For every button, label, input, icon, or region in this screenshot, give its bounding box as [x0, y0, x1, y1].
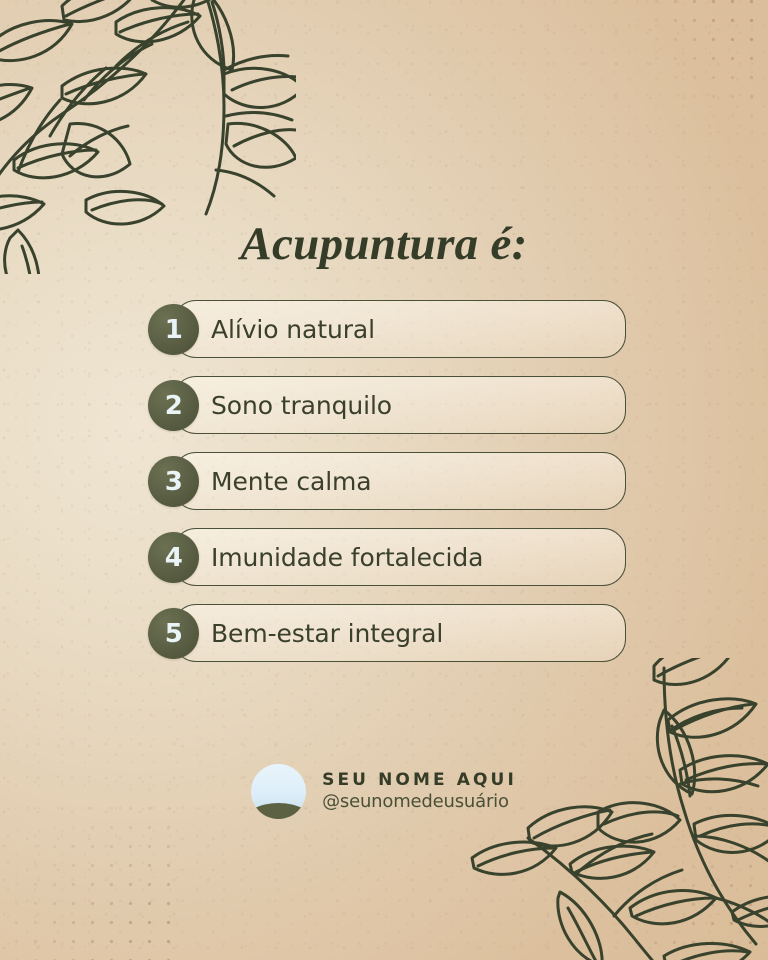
speckle-top-right [628, 0, 768, 142]
benefits-list: 1 Alívio natural 2 Sono tranquilo 3 Ment… [148, 300, 626, 680]
footer-text: SEU NOME AQUI @seunomedeusuário [322, 770, 517, 814]
list-item-number: 3 [165, 469, 183, 495]
list-item: 5 Bem-estar integral [148, 604, 626, 662]
footer-name: SEU NOME AQUI [322, 770, 517, 791]
list-item-number: 1 [165, 317, 183, 343]
list-item-number: 4 [165, 545, 183, 571]
footer-signature: SEU NOME AQUI @seunomedeusuário [0, 764, 768, 819]
list-item: 2 Sono tranquilo [148, 376, 626, 434]
footer-handle: @seunomedeusuário [322, 791, 517, 814]
list-item-label: Bem-estar integral [211, 604, 443, 662]
list-item: 3 Mente calma [148, 452, 626, 510]
sun-over-hill-icon [251, 764, 306, 819]
list-item-number-badge: 2 [148, 380, 199, 431]
list-item-number: 2 [165, 393, 183, 419]
logo-hill-front [251, 803, 306, 820]
list-item: 4 Imunidade fortalecida [148, 528, 626, 586]
list-item-number-badge: 4 [148, 532, 199, 583]
list-item-label: Sono tranquilo [211, 376, 392, 434]
list-item-label: Imunidade fortalecida [211, 528, 483, 586]
list-item: 1 Alívio natural [148, 300, 626, 358]
list-item-number-badge: 1 [148, 304, 199, 355]
list-item-label: Alívio natural [211, 300, 375, 358]
list-item-label: Mente calma [211, 452, 372, 510]
social-post-canvas: Acupuntura é: 1 Alívio natural 2 Sono tr… [0, 0, 768, 960]
list-item-number-badge: 3 [148, 456, 199, 507]
list-item-number: 5 [165, 621, 183, 647]
speckle-bottom-right [608, 800, 768, 960]
list-item-number-badge: 5 [148, 608, 199, 659]
page-title: Acupuntura é: [0, 217, 768, 271]
